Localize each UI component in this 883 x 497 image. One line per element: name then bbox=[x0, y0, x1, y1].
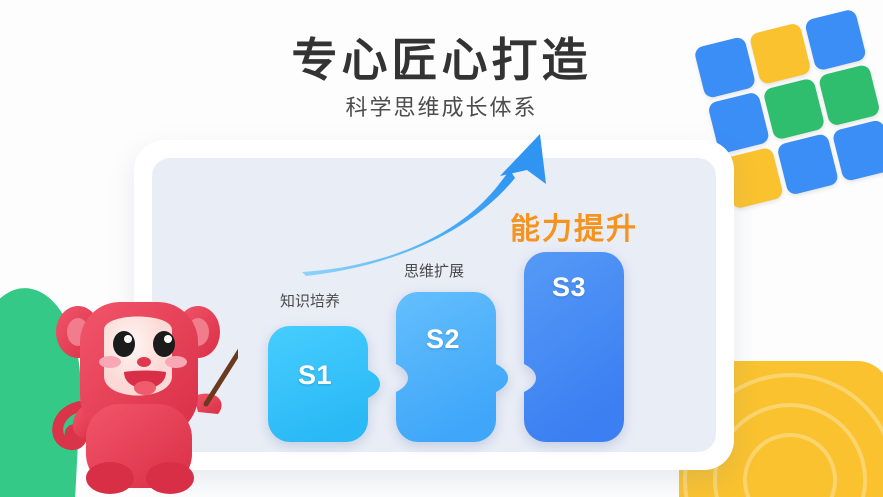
stage-card-s2-label: S2 bbox=[426, 324, 460, 355]
monkey-eye-left-glint bbox=[124, 335, 132, 343]
monkey-leg-right bbox=[146, 462, 194, 494]
monkey-cheek-left bbox=[99, 356, 121, 368]
block-cell-9 bbox=[832, 119, 883, 182]
monkey-mascot bbox=[48, 278, 238, 497]
stage-card-s3-label: S3 bbox=[552, 272, 586, 303]
monkey-leg-left bbox=[86, 462, 134, 494]
monkey-eye-right-glint bbox=[164, 335, 172, 343]
page-subtitle: 科学思维成长体系 bbox=[0, 90, 883, 122]
page-title: 专心匠心打造 bbox=[0, 24, 883, 90]
block-cell-8 bbox=[776, 133, 839, 196]
monkey-cheek-right bbox=[165, 356, 187, 368]
stage-card-s2-shape bbox=[396, 292, 508, 442]
monkey-tongue bbox=[134, 381, 156, 395]
stage-card-s1-label: S1 bbox=[298, 360, 332, 391]
stage-caption-s2: 思维扩展 bbox=[404, 260, 464, 281]
illustration-stage: 专心匠心打造 科学思维成长体系 能力提升 知识培养 思维扩展 bbox=[0, 0, 883, 497]
stage-card-s3[interactable]: S3 bbox=[524, 252, 624, 442]
stage-card-s2[interactable]: S2 bbox=[396, 292, 508, 442]
monkey-nose bbox=[137, 357, 151, 367]
monkey-eye-right bbox=[153, 331, 175, 357]
stage-caption-s1: 知识培养 bbox=[280, 290, 340, 311]
stage-card-s1[interactable]: S1 bbox=[268, 326, 380, 442]
monkey-eye-left bbox=[113, 331, 135, 357]
